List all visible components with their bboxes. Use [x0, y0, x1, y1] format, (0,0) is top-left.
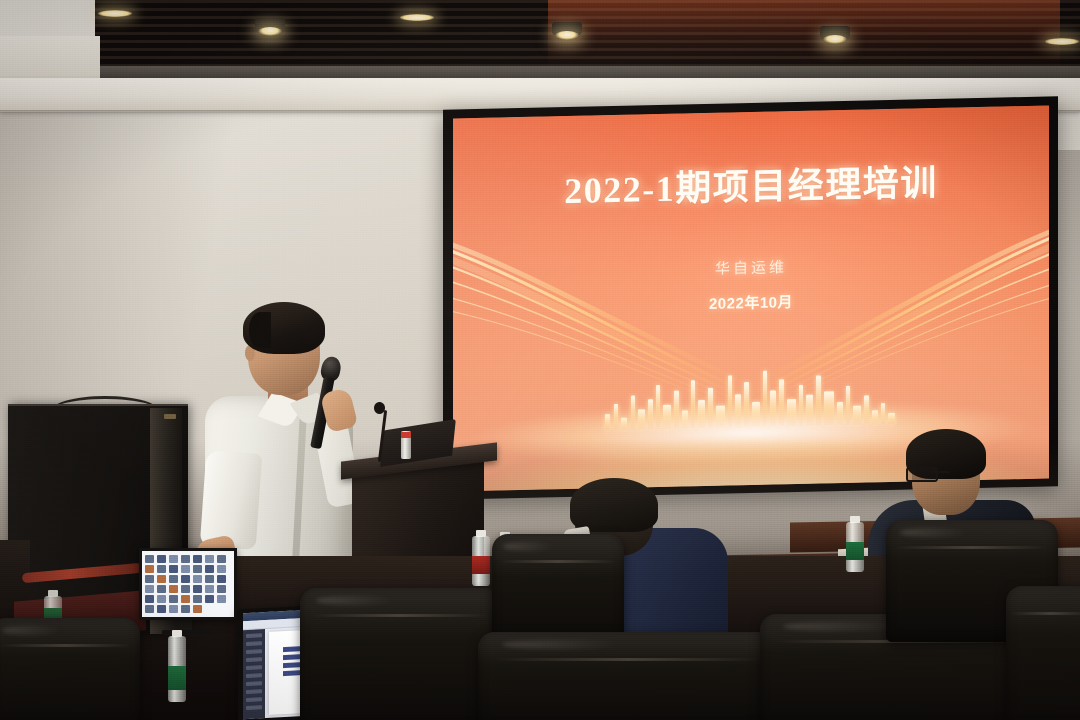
desktop-icon[interactable]	[193, 565, 202, 573]
attendee-center-hair	[570, 478, 658, 532]
desktop-icon[interactable]	[181, 605, 190, 613]
desktop-icon[interactable]	[169, 595, 178, 603]
desktop-icon[interactable]	[217, 595, 226, 603]
desktop-icon[interactable]	[217, 585, 226, 593]
slatted-ceiling	[95, 0, 1080, 70]
conference-chair	[0, 618, 140, 720]
desktop-icon[interactable]	[205, 575, 214, 583]
desktop-icon[interactable]	[157, 575, 166, 583]
water-bottle	[846, 516, 864, 572]
desktop-icon[interactable]	[193, 585, 202, 593]
desktop-icon[interactable]	[181, 555, 190, 563]
ceiling-spotlight-icon	[820, 26, 850, 40]
desktop-icon[interactable]	[181, 585, 190, 593]
desktop-icon[interactable]	[205, 595, 214, 603]
presenter-left-sleeve	[200, 450, 263, 550]
desktop-icon[interactable]	[169, 585, 178, 593]
desktop-icon[interactable]	[169, 605, 178, 613]
desktop-icon[interactable]	[145, 585, 154, 593]
desktop-icon[interactable]	[145, 605, 154, 613]
desktop-icon[interactable]	[193, 595, 202, 603]
desktop-icon[interactable]	[145, 555, 154, 563]
desktop-icon[interactable]	[193, 605, 202, 613]
water-bottle	[472, 530, 490, 586]
desktop-icon[interactable]	[169, 575, 178, 583]
desktop-icon[interactable]	[181, 565, 190, 573]
conference-room-photo: 2022-1期项目经理培训 华自运维 2022年10月	[0, 0, 1080, 720]
desktop-icon[interactable]	[145, 575, 154, 583]
ceiling-spotlight-icon	[98, 10, 132, 17]
desktop-icon[interactable]	[157, 565, 166, 573]
water-bottle	[168, 630, 186, 702]
ceiling-warm-glow	[548, 0, 1060, 70]
desktop-icon[interactable]	[169, 555, 178, 563]
desktop-icon[interactable]	[145, 595, 154, 603]
desktop-icon[interactable]	[217, 575, 226, 583]
desktop-icon-grid[interactable]	[142, 551, 234, 617]
ceiling-spotlight-icon	[400, 14, 434, 21]
desktop-icon[interactable]	[157, 555, 166, 563]
laptop-sidebar	[243, 629, 265, 719]
desktop-icon[interactable]	[157, 585, 166, 593]
desktop-icon[interactable]	[145, 565, 154, 573]
rack-latch	[164, 414, 176, 419]
desktop-icon[interactable]	[169, 565, 178, 573]
soffit-left	[0, 36, 100, 80]
desktop-icon[interactable]	[217, 565, 226, 573]
gooseneck-microphone-icon	[371, 402, 391, 460]
conference-chair	[300, 588, 500, 720]
desktop-icon[interactable]	[205, 555, 214, 563]
desktop-icon[interactable]	[205, 585, 214, 593]
desktop-icon[interactable]	[181, 595, 190, 603]
conference-chair	[478, 632, 778, 720]
ceiling-spotlight-icon	[255, 18, 285, 32]
desktop-icon[interactable]	[181, 575, 190, 583]
conference-chair	[1006, 586, 1080, 720]
podium-water-bottle	[401, 431, 411, 459]
desktop-icon[interactable]	[193, 575, 202, 583]
ceiling-spotlight-icon	[552, 22, 582, 36]
desktop-icon[interactable]	[193, 555, 202, 563]
eyeglasses-icon	[906, 467, 950, 478]
presenter-hair	[243, 302, 325, 354]
desktop-icon[interactable]	[157, 605, 166, 613]
desktop-monitor	[139, 548, 237, 620]
desktop-icon[interactable]	[157, 595, 166, 603]
desktop-icon[interactable]	[205, 565, 214, 573]
ceiling-spotlight-icon	[1045, 38, 1079, 45]
desktop-icon[interactable]	[217, 555, 226, 563]
